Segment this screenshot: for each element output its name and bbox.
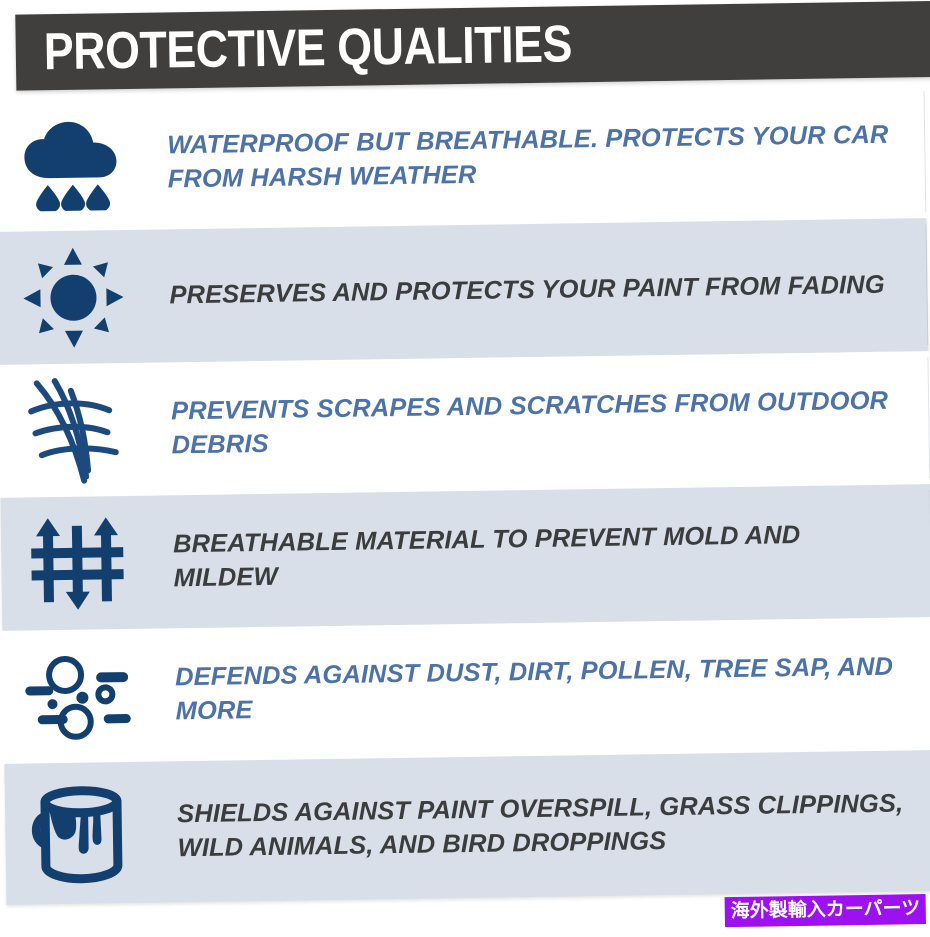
breathable-arrows-icon xyxy=(0,496,154,631)
feature-row: PRESERVES AND PROTECTS YOUR PAINT FROM F… xyxy=(0,218,928,365)
feature-text: PREVENTS SCRAPES AND SCRATCHES FROM OUTD… xyxy=(151,384,930,463)
cloud-rain-icon xyxy=(0,97,148,232)
page-title: PROTECTIVE QUALITIES xyxy=(43,18,572,78)
feature-text: BREATHABLE MATERIAL TO PREVENT MOLD AND … xyxy=(153,517,930,596)
feature-row: WATERPROOF BUT BREATHABLE. PROTECTS YOUR… xyxy=(0,85,926,232)
feature-row: PREVENTS SCRAPES AND SCRATCHES FROM OUTD… xyxy=(0,351,930,498)
feature-row: DEFENDS AGAINST DUST, DIRT, POLLEN, TREE… xyxy=(2,617,930,764)
feature-text: SHIELDS AGAINST PAINT OVERSPILL, GRASS C… xyxy=(157,787,930,866)
protective-qualities-infographic: PROTECTIVE QUALITIES WATER xyxy=(0,0,930,930)
dust-particles-icon xyxy=(2,629,156,764)
tilted-content-group: PROTECTIVE QUALITIES WATER xyxy=(0,0,930,937)
feature-text: DEFENDS AGAINST DUST, DIRT, POLLEN, TREE… xyxy=(155,650,930,729)
feature-text: WATERPROOF BUT BREATHABLE. PROTECTS YOUR… xyxy=(147,118,926,197)
sun-icon xyxy=(0,230,150,365)
header-bar: PROTECTIVE QUALITIES xyxy=(15,1,930,91)
row-divider xyxy=(924,91,927,212)
row-divider xyxy=(925,224,928,345)
watermark-badge: 海外製輸入カーパーツ xyxy=(724,894,926,927)
feature-list: WATERPROOF BUT BREATHABLE. PROTECTS YOUR… xyxy=(0,85,930,905)
feature-row: SHIELDS AGAINST PAINT OVERSPILL, GRASS C… xyxy=(4,750,930,905)
scratch-mesh-icon xyxy=(0,363,152,498)
feature-row: BREATHABLE MATERIAL TO PREVENT MOLD AND … xyxy=(0,484,930,631)
feature-text: PRESERVES AND PROTECTS YOUR PAINT FROM F… xyxy=(149,268,911,313)
paint-can-icon xyxy=(4,762,158,905)
